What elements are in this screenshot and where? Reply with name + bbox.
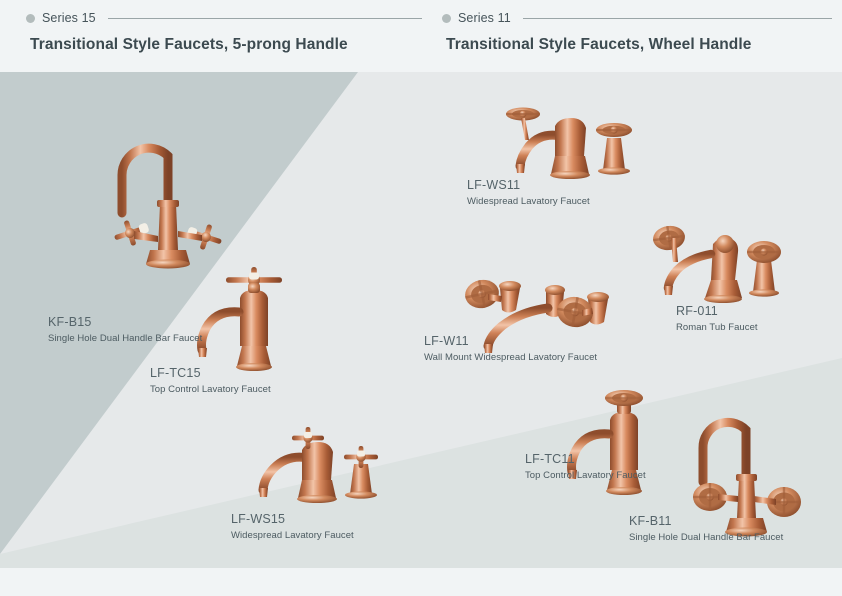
series-rule-left [108,18,422,19]
product-description: Widespread Lavatory Faucet [467,196,590,207]
series-header-right: Series 11 Transitional Style Faucets, Wh… [442,10,832,54]
product-code: RF-011 [676,304,758,318]
product-description: Roman Tub Faucet [676,322,758,333]
series-rule-right [523,18,832,19]
product-code: KF-B11 [629,514,783,528]
series-kicker-right: Series 11 [442,10,832,26]
product-image-lf-ws15 [236,424,396,514]
product-caption-lf-ws11: LF-WS11 Widespread Lavatory Faucet [467,178,590,207]
product-description: Single Hole Dual Handle Bar Faucet [48,333,202,344]
series-kicker-left: Series 15 [26,10,422,26]
product-description: Top Control Lavatory Faucet [525,470,646,481]
product-code: LF-WS15 [231,512,354,526]
product-caption-lf-tc15: LF-TC15 Top Control Lavatory Faucet [150,366,271,395]
product-caption-kf-b11: KF-B11 Single Hole Dual Handle Bar Fauce… [629,514,783,543]
product-code: LF-TC11 [525,452,646,466]
product-caption-rf-011: RF-011 Roman Tub Faucet [676,304,758,333]
product-caption-lf-tc11: LF-TC11 Top Control Lavatory Faucet [525,452,646,481]
bullet-dot-icon [26,14,35,23]
catalog-page: Series 15 Transitional Style Faucets, 5-… [0,0,842,596]
product-image-lf-tc11 [556,374,666,504]
product-image-lf-ws11 [495,100,655,190]
product-caption-lf-w11: LF-W11 Wall Mount Widespread Lavatory Fa… [424,334,597,363]
page-footer-strip [0,568,842,596]
page-header: Series 15 Transitional Style Faucets, 5-… [0,0,842,72]
series-label-left: Series 15 [42,11,96,25]
series-label-right: Series 11 [458,11,511,25]
bullet-dot-icon [442,14,451,23]
series-title-left: Transitional Style Faucets, 5-prong Hand… [26,36,422,54]
product-caption-lf-ws15: LF-WS15 Widespread Lavatory Faucet [231,512,354,541]
product-caption-kf-b15: KF-B15 Single Hole Dual Handle Bar Fauce… [48,315,202,344]
product-description: Wall Mount Widespread Lavatory Faucet [424,352,597,363]
product-stage: KF-B15 Single Hole Dual Handle Bar Fauce… [0,72,842,568]
product-code: LF-WS11 [467,178,590,192]
product-code: LF-TC15 [150,366,271,380]
series-title-right: Transitional Style Faucets, Wheel Handle [442,36,832,54]
product-image-rf-011 [645,222,790,312]
product-description: Single Hole Dual Handle Bar Faucet [629,532,783,543]
product-description: Widespread Lavatory Faucet [231,530,354,541]
product-code: LF-W11 [424,334,597,348]
product-code: KF-B15 [48,315,202,329]
series-header-left: Series 15 Transitional Style Faucets, 5-… [26,10,422,54]
product-description: Top Control Lavatory Faucet [150,384,271,395]
